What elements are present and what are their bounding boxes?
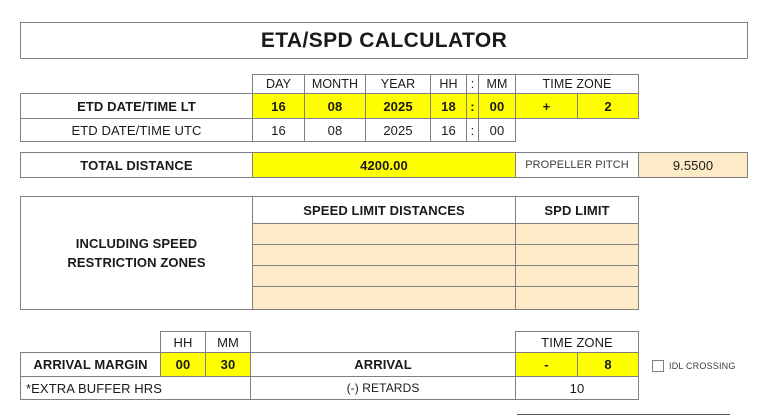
arrival-margin-label: ARRIVAL MARGIN xyxy=(20,352,161,377)
arrival-header-hh: HH xyxy=(160,331,206,353)
etd-lt-tz-sign[interactable]: + xyxy=(515,93,578,119)
idl-crossing-checkbox[interactable] xyxy=(652,360,664,372)
restriction-zones-label-line2: RESTRICTION ZONES xyxy=(67,256,205,269)
spd-limit-input-3[interactable] xyxy=(515,265,639,287)
etd-lt-tz-value[interactable]: 2 xyxy=(577,93,639,119)
speed-limit-distance-input-1[interactable] xyxy=(252,223,516,245)
etd-header-year: YEAR xyxy=(365,74,431,94)
propeller-pitch-label: PROPELLER PITCH xyxy=(515,152,639,178)
etd-utc-hh: 16 xyxy=(430,118,467,142)
extra-buffer-hrs-label: *EXTRA BUFFER HRS xyxy=(20,376,251,400)
etd-utc-label: ETD DATE/TIME UTC xyxy=(20,118,253,142)
etd-header-time-zone: TIME ZONE xyxy=(515,74,639,94)
etd-header-hh: HH xyxy=(430,74,467,94)
total-distance-value[interactable]: 4200.00 xyxy=(252,152,516,178)
etd-lt-hh[interactable]: 18 xyxy=(430,93,467,119)
arrival-label: ARRIVAL xyxy=(250,352,516,377)
arrival-tz-sign[interactable]: - xyxy=(515,352,578,377)
arrival-header-mm: MM xyxy=(205,331,251,353)
arrival-header-time-zone: TIME ZONE xyxy=(515,331,639,353)
retards-value: 10 xyxy=(515,376,639,400)
propeller-pitch-value[interactable]: 9.5500 xyxy=(638,152,748,178)
bottom-divider xyxy=(517,414,730,415)
speed-limit-distance-input-3[interactable] xyxy=(252,265,516,287)
etd-utc-mm: 00 xyxy=(478,118,516,142)
spd-limit-input-4[interactable] xyxy=(515,286,639,310)
speed-limit-distance-input-4[interactable] xyxy=(252,286,516,310)
spreadsheet-canvas: ETA/SPD CALCULATOR DAY MONTH YEAR HH : M… xyxy=(0,0,768,420)
idl-crossing-label: IDL CROSSING xyxy=(669,361,736,371)
etd-lt-label: ETD DATE/TIME LT xyxy=(20,93,253,119)
etd-header-day: DAY xyxy=(252,74,305,94)
arrival-tz-value[interactable]: 8 xyxy=(577,352,639,377)
total-distance-label: TOTAL DISTANCE xyxy=(20,152,253,178)
restriction-zones-label: INCLUDING SPEED RESTRICTION ZONES xyxy=(20,196,253,310)
etd-lt-day[interactable]: 16 xyxy=(252,93,305,119)
speed-limit-distance-input-2[interactable] xyxy=(252,244,516,266)
etd-lt-mm[interactable]: 00 xyxy=(478,93,516,119)
idl-crossing-checkbox-group[interactable]: IDL CROSSING xyxy=(652,360,736,372)
etd-header-month: MONTH xyxy=(304,74,366,94)
restriction-zones-label-line1: INCLUDING SPEED xyxy=(76,237,197,250)
page-title: ETA/SPD CALCULATOR xyxy=(20,22,748,59)
etd-utc-year: 2025 xyxy=(365,118,431,142)
spd-limit-input-1[interactable] xyxy=(515,223,639,245)
speed-limit-distances-header: SPEED LIMIT DISTANCES xyxy=(252,196,516,224)
etd-utc-day: 16 xyxy=(252,118,305,142)
spd-limit-input-2[interactable] xyxy=(515,244,639,266)
arrival-margin-mm[interactable]: 30 xyxy=(205,352,251,377)
spd-limit-header: SPD LIMIT xyxy=(515,196,639,224)
retards-label: (-) RETARDS xyxy=(250,376,516,400)
etd-lt-month[interactable]: 08 xyxy=(304,93,366,119)
etd-header-mm: MM xyxy=(478,74,516,94)
etd-lt-year[interactable]: 2025 xyxy=(365,93,431,119)
etd-utc-month: 08 xyxy=(304,118,366,142)
arrival-margin-hh[interactable]: 00 xyxy=(160,352,206,377)
